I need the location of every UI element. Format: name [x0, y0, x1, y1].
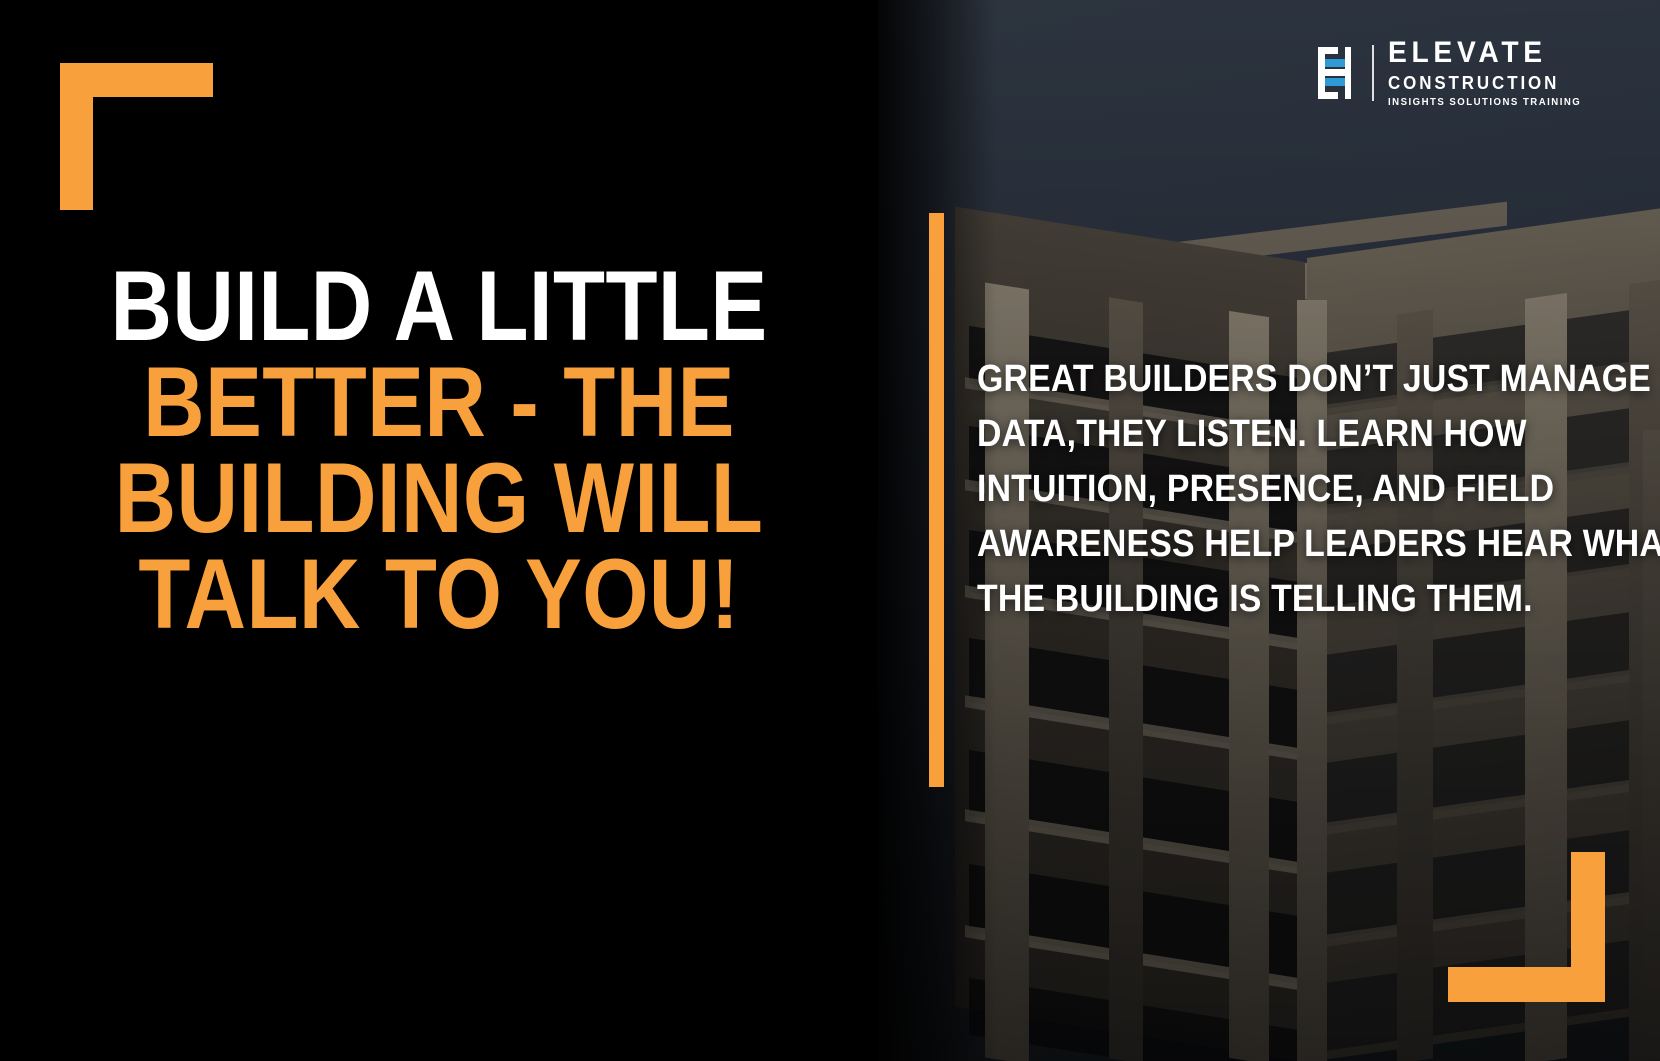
bracket-arm-vertical	[60, 63, 93, 210]
headline-line-4: TALK TO YOU!	[61, 546, 816, 642]
headline: BUILD A LITTLE BETTER - THE BUILDING WIL…	[0, 258, 878, 642]
poster-canvas: BUILD A LITTLE BETTER - THE BUILDING WIL…	[0, 0, 1660, 1061]
body-line-2: DATA,THEY LISTEN. LEARN HOW	[977, 407, 1511, 462]
headline-line-1: BUILD A LITTLE	[61, 258, 816, 354]
body-copy: GREAT BUILDERS DON’T JUST MANAGE DATA,TH…	[944, 352, 1544, 627]
elevate-construction-logo[interactable]: ELEVATE CONSTRUCTION INSIGHTS SOLUTIONS …	[1316, 38, 1589, 108]
logo-brand-name: ELEVATE	[1388, 38, 1577, 68]
vertical-accent-bar	[929, 213, 944, 787]
logo-brand-subtitle: CONSTRUCTION	[1388, 74, 1577, 92]
headline-line-3: BUILDING WILL	[61, 450, 816, 546]
bracket-arm-horizontal	[1448, 967, 1605, 1002]
logo-tagline: INSIGHTS SOLUTIONS TRAINING	[1388, 98, 1581, 108]
body-line-3: INTUITION, PRESENCE, AND FIELD	[977, 462, 1511, 517]
elevate-e-mark-icon	[1316, 45, 1358, 101]
logo-divider	[1372, 45, 1374, 101]
corner-bracket-top-left-icon	[60, 63, 213, 210]
body-line-5: THE BUILDING IS TELLING THEM.	[977, 572, 1511, 627]
headline-line-2: BETTER - THE	[61, 354, 816, 450]
body-line-4: AWARENESS HELP LEADERS HEAR WHAT	[977, 517, 1511, 572]
corner-bracket-bottom-right-icon	[1448, 852, 1605, 1002]
logo-wordmark: ELEVATE CONSTRUCTION INSIGHTS SOLUTIONS …	[1388, 38, 1589, 108]
body-line-1: GREAT BUILDERS DON’T JUST MANAGE	[977, 352, 1511, 407]
